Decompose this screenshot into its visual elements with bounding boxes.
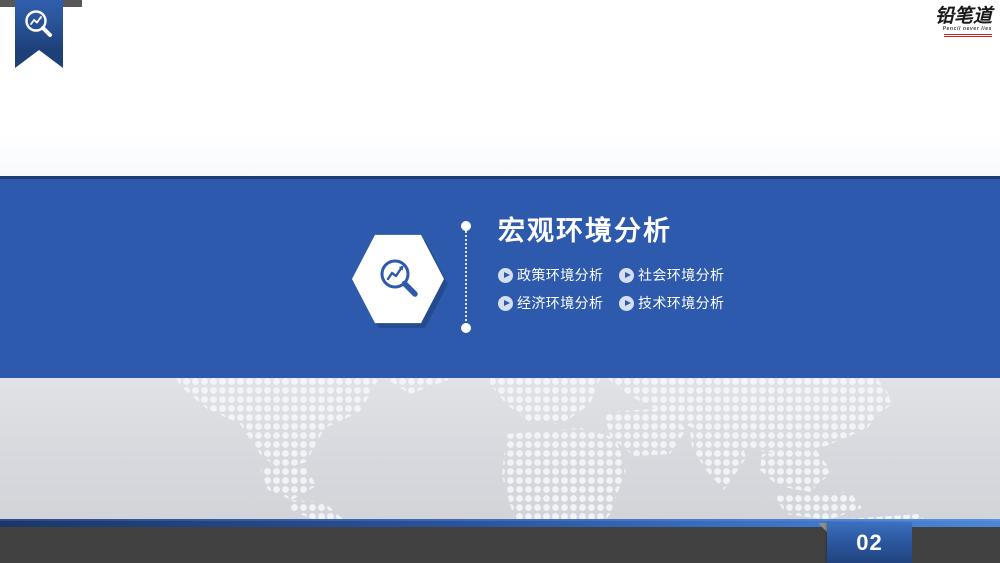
ribbon-point <box>15 50 63 68</box>
chart-magnifier-icon <box>22 8 56 42</box>
section-text-block: 宏观环境分析 政策环境分析 社会环境分析 经济环境分析 技术环境分析 <box>498 215 928 316</box>
list-item[interactable]: 政策环境分析 <box>498 263 611 288</box>
section-title: 宏观环境分析 <box>498 215 928 249</box>
chart-magnifier-icon <box>376 256 422 302</box>
upper-white-area <box>0 7 1000 176</box>
brand-tagline: Pencil never lies <box>914 26 992 33</box>
section-banner: 宏观环境分析 政策环境分析 社会环境分析 经济环境分析 技术环境分析 <box>0 176 1000 378</box>
lower-background-area <box>0 378 1000 519</box>
brand-underline-rule <box>944 34 992 38</box>
list-item[interactable]: 经济环境分析 <box>498 291 611 316</box>
dotted-divider <box>461 221 471 333</box>
dotted-world-map <box>110 378 1000 519</box>
bullet-list: 政策环境分析 社会环境分析 经济环境分析 技术环境分析 <box>498 263 928 316</box>
list-item-label: 技术环境分析 <box>638 296 724 312</box>
play-circle-icon <box>619 296 634 311</box>
page-number: 02 <box>827 523 912 563</box>
footer-accent-highlight <box>0 519 1000 521</box>
section-badge <box>352 233 448 329</box>
divider-dot-bottom <box>461 323 471 333</box>
play-circle-icon <box>498 296 513 311</box>
play-circle-icon <box>498 268 513 283</box>
page-tab-notch <box>818 523 827 532</box>
list-item-label: 政策环境分析 <box>517 268 603 284</box>
page-number-tab: 02 <box>827 523 912 563</box>
brand-logo: 铅笔道 Pencil never lies <box>914 6 992 40</box>
list-item-label: 社会环境分析 <box>638 268 724 284</box>
play-circle-icon <box>619 268 634 283</box>
divider-line <box>465 227 467 327</box>
presentation-slide: 铅笔道 Pencil never lies <box>0 0 1000 563</box>
brand-name-cn: 铅笔道 <box>914 6 992 26</box>
list-item-label: 经济环境分析 <box>517 296 603 312</box>
list-item[interactable]: 社会环境分析 <box>619 263 732 288</box>
list-item[interactable]: 技术环境分析 <box>619 291 732 316</box>
corner-ribbon <box>15 0 63 68</box>
